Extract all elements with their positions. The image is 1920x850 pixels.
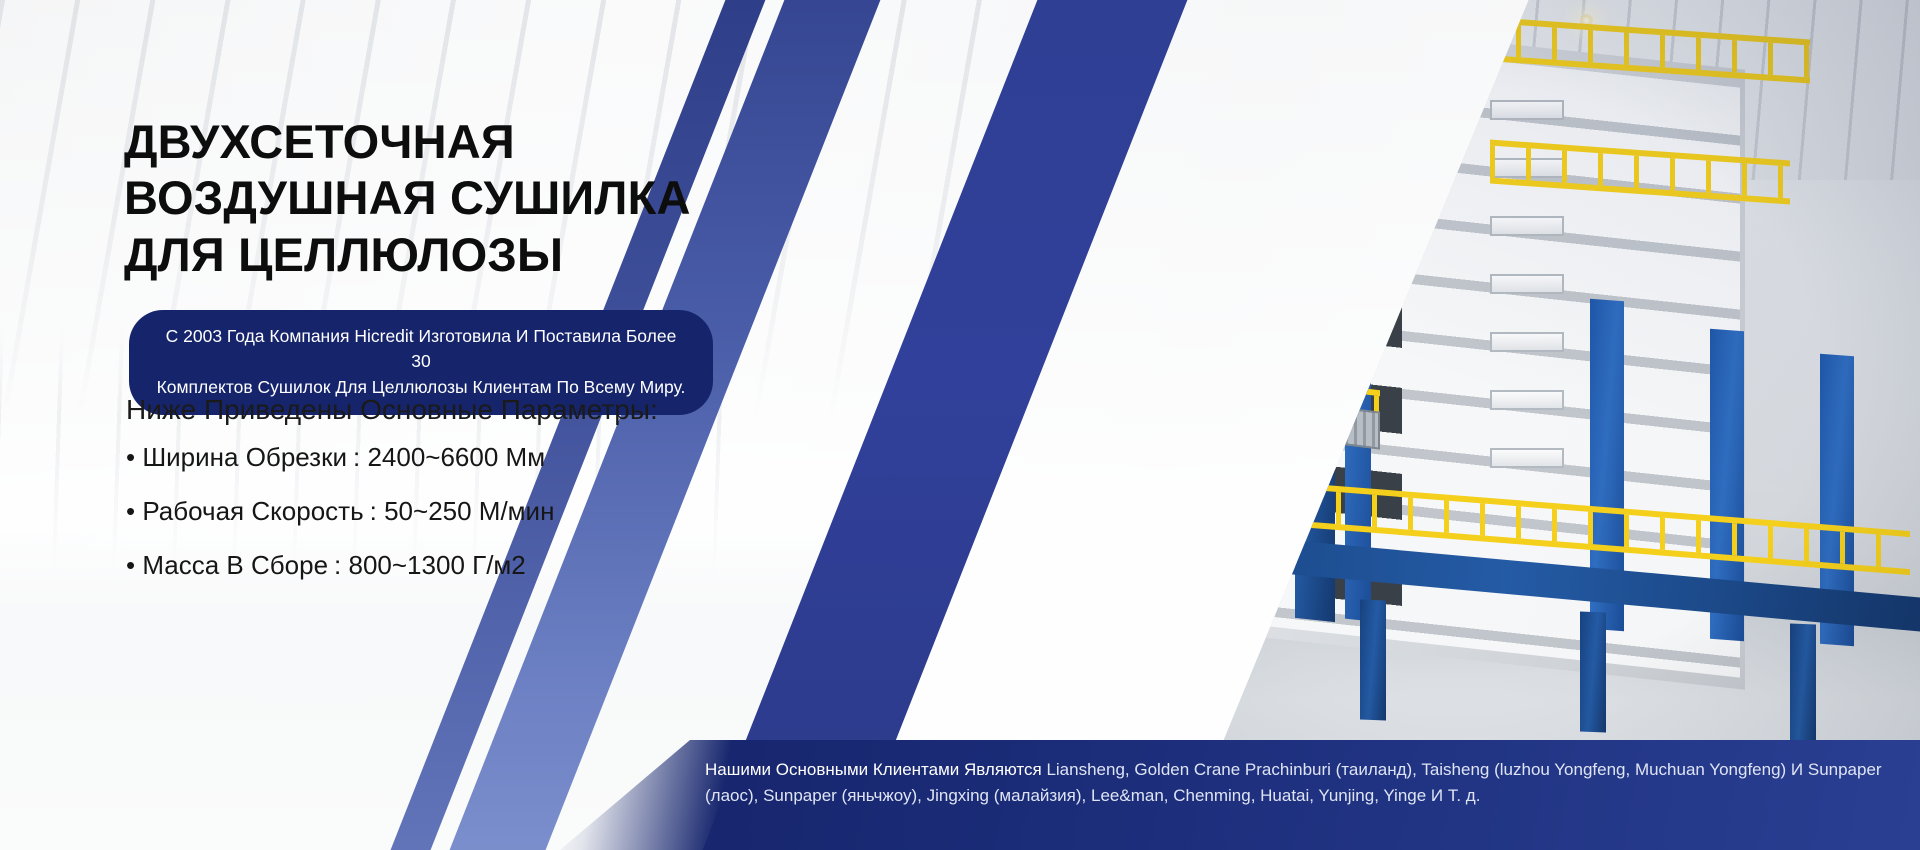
- list-item: • Рабочая Скорость: 50~250 М/мин: [126, 495, 766, 529]
- badge-line-1: С 2003 Года Компания Hicredit Изготовила…: [155, 324, 687, 375]
- parameters-lead: Ниже Приведены Основные Параметры:: [126, 392, 766, 427]
- param-value: : 50~250 М/мин: [370, 495, 555, 529]
- param-value: : 800~1300 Г/м2: [334, 549, 526, 583]
- param-key: • Ширина Обрезки: [126, 441, 347, 475]
- clients-lead: Нашими Основными Клиентами Являются: [705, 760, 1046, 779]
- parameters-block: Ниже Приведены Основные Параметры: • Шир…: [126, 392, 766, 602]
- list-item: • Масса В Сборе: 800~1300 Г/м2: [126, 549, 766, 583]
- banner-stage: ДВУХСЕТОЧНАЯ ВОЗДУШНАЯ СУШИЛКА ДЛЯ ЦЕЛЛЮ…: [0, 0, 1920, 850]
- page-title: ДВУХСЕТОЧНАЯ ВОЗДУШНАЯ СУШИЛКА ДЛЯ ЦЕЛЛЮ…: [124, 114, 744, 283]
- clients-banner: Нашими Основными Клиентами Являются Lian…: [560, 740, 1920, 850]
- param-value: : 2400~6600 Мм: [353, 441, 545, 475]
- param-key: • Масса В Сборе: [126, 549, 328, 583]
- headline-line-1: ДВУХСЕТОЧНАЯ: [124, 114, 744, 170]
- headline-line-3: ДЛЯ ЦЕЛЛЮЛОЗЫ: [124, 227, 744, 283]
- content-area: ДВУХСЕТОЧНАЯ ВОЗДУШНАЯ СУШИЛКА ДЛЯ ЦЕЛЛЮ…: [0, 0, 760, 850]
- param-key: • Рабочая Скорость: [126, 495, 364, 529]
- list-item: • Ширина Обрезки: 2400~6600 Мм: [126, 441, 766, 475]
- headline-line-2: ВОЗДУШНАЯ СУШИЛКА: [124, 170, 744, 226]
- parameters-list: • Ширина Обрезки: 2400~6600 Мм • Рабочая…: [126, 441, 766, 582]
